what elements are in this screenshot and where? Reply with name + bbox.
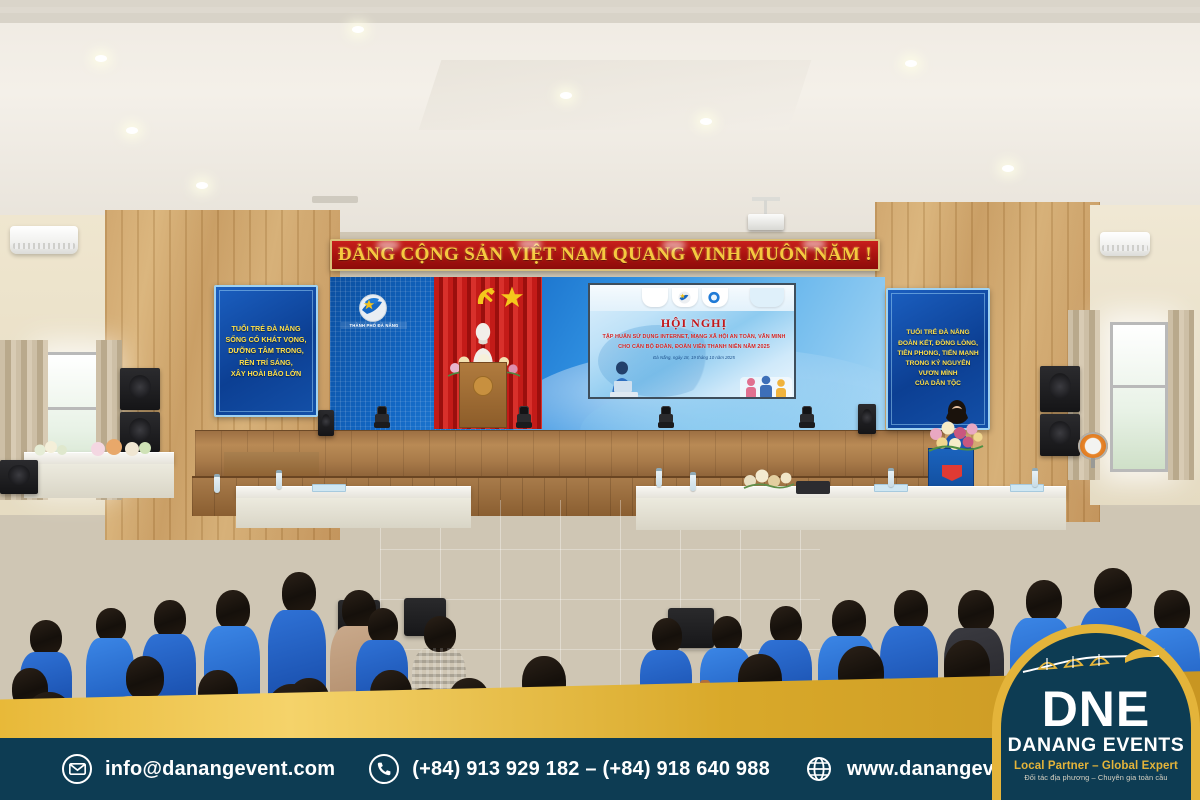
light-base	[374, 422, 390, 428]
stage-moving-light	[515, 406, 533, 428]
phone-icon	[369, 754, 399, 784]
person-head	[30, 620, 62, 656]
banner-left-inner: TUỔI TRẺ ĐÀ NẴNG SỐNG CÓ KHÁT VỌNG, DƯỠN…	[219, 290, 313, 412]
banner-right-line-1: TUỔI TRẺ ĐÀ NẴNG	[906, 328, 969, 338]
logo-initials: DNE	[1001, 685, 1191, 733]
banner-right-line-5: VƯƠN MÌNH	[919, 369, 958, 379]
stage-moving-light	[373, 406, 391, 428]
contact-email[interactable]: info@danangevent.com	[62, 754, 335, 784]
ceiling-air-vent	[312, 196, 358, 203]
ceiling-downlight	[1002, 165, 1014, 172]
globe-icon	[804, 754, 834, 784]
window-mullion	[1113, 385, 1165, 388]
ceiling	[0, 0, 1200, 232]
person-head	[832, 600, 866, 640]
led-secondary-logo-icon	[707, 291, 721, 304]
led-logo-pill	[642, 288, 668, 307]
stage-pa-speaker-right	[858, 404, 876, 434]
ceiling-downlight	[560, 92, 572, 99]
led-subtitle-line-1: TẬP HUẤN SỬ DỤNG INTERNET, MẠNG XÃ HỘI A…	[596, 333, 792, 341]
banner-light-glint	[802, 239, 826, 249]
banner-light-glint	[376, 240, 400, 250]
banner-left-line-1: TUỔI TRẺ ĐÀ NẴNG	[231, 323, 300, 334]
stage-pa-speaker-left	[318, 410, 334, 436]
logo-content: DNE DANANG EVENTS Local Partner – Global…	[1001, 644, 1191, 782]
light-base	[799, 422, 815, 428]
youth-union-emblem	[355, 293, 391, 323]
led-logo-pill	[750, 288, 784, 307]
yellow-star-icon	[500, 285, 524, 309]
party-slogan-banner: ĐẢNG CỘNG SẢN VIỆT NAM QUANG VINH MUÔN N…	[330, 239, 880, 271]
ceiling-downlight	[700, 118, 712, 125]
ceiling-projector	[748, 214, 784, 230]
led-illustration-person-laptop	[602, 359, 648, 399]
banner-left-line-3: DƯỠNG TÂM TRONG,	[228, 345, 304, 356]
banner-right-line-2: ĐOÀN KẾT, ĐỒNG LÒNG,	[898, 339, 978, 349]
screenshot-root: ĐẢNG CỘNG SẢN VIỆT NAM QUANG VINH MUÔN N…	[0, 0, 1200, 800]
ceiling-recess-3	[0, 13, 1200, 23]
banner-light-glint	[662, 240, 686, 250]
person-head	[770, 606, 802, 644]
ceiling-slant-panel	[419, 60, 812, 130]
person-head	[216, 590, 250, 630]
person-head	[368, 608, 398, 644]
ceiling-downlight	[126, 127, 138, 134]
air-conditioner-right	[1100, 232, 1150, 256]
dragon-bridge-icon	[1021, 644, 1171, 678]
emblem-city-label: THÀNH PHỐ ĐÀ NẴNG	[341, 322, 407, 329]
banner-left: TUỔI TRẺ ĐÀ NẴNG SỐNG CÓ KHÁT VỌNG, DƯỠN…	[214, 285, 318, 417]
stage-moving-light	[657, 406, 675, 428]
banner-right-line-3: TIÊN PHONG, TIẾN MẠNH	[897, 349, 978, 359]
air-conditioner-left	[10, 226, 78, 254]
led-union-emblem-icon	[677, 291, 692, 304]
banner-right-line-4: TRONG KỶ NGUYÊN	[906, 359, 971, 369]
led-subtitle-line-2: CHO CÁN BỘ ĐOÀN, ĐOÀN VIÊN THANH NIÊN NĂ…	[596, 343, 792, 351]
light-base	[658, 422, 674, 428]
led-title: HỘI NGHỊ	[590, 316, 796, 331]
contact-email-text: info@danangevent.com	[105, 758, 335, 781]
led-presentation-screen: HỘI NGHỊ TẬP HUẤN SỬ DỤNG INTERNET, MẠNG…	[588, 283, 796, 399]
led-illustration-group	[740, 367, 792, 399]
ceiling-downlight	[905, 60, 917, 67]
ceiling-downlight	[352, 26, 364, 33]
person-head	[282, 572, 316, 614]
hammer-sickle-icon	[474, 285, 500, 307]
banner-left-line-2: SỐNG CÓ KHÁT VỌNG,	[225, 334, 306, 345]
person-head	[154, 600, 186, 638]
person-head	[96, 608, 126, 642]
person-head	[424, 616, 456, 652]
hall-pa-speaker-left-top	[120, 368, 160, 410]
logo-tagline-vi: Đối tác địa phương – Chuyên gia toàn cầu	[1001, 773, 1191, 782]
logo-tagline-en: Local Partner – Global Expert	[1001, 760, 1191, 772]
ceiling-recess-1	[0, 0, 1200, 7]
banner-light-glint	[518, 239, 542, 249]
podium-emblem	[473, 376, 493, 396]
person-head	[712, 616, 742, 652]
contact-phone-text: (+84) 913 929 182 – (+84) 918 640 988	[412, 758, 770, 781]
person-head	[894, 590, 928, 630]
footer-contacts: info@danangevent.com (+84) 913 929 182 –…	[0, 754, 1113, 784]
person-head	[652, 618, 682, 654]
logo-company-name: DANANG EVENTS	[1001, 734, 1191, 757]
banner-left-line-5: XÂY HOÀI BÃO LỚN	[231, 368, 301, 379]
stage-moving-light	[798, 406, 816, 428]
ceiling-downlight	[95, 55, 107, 62]
banner-left-line-4: RÈN TRÍ SÁNG,	[239, 357, 293, 368]
party-slogan-text: ĐẢNG CỘNG SẢN VIỆT NAM QUANG VINH MUÔN N…	[338, 244, 872, 266]
person-head	[126, 656, 164, 700]
dne-logo-badge[interactable]: DNE DANANG EVENTS Local Partner – Global…	[984, 600, 1200, 800]
banner-right-line-6: CỦA DÂN TỘC	[915, 379, 961, 389]
envelope-icon	[62, 754, 92, 784]
light-base	[516, 422, 532, 428]
hall-pa-speaker-right-top	[1040, 366, 1080, 412]
contact-phone[interactable]: (+84) 913 929 182 – (+84) 918 640 988	[369, 754, 770, 784]
ceiling-downlight	[196, 182, 208, 189]
